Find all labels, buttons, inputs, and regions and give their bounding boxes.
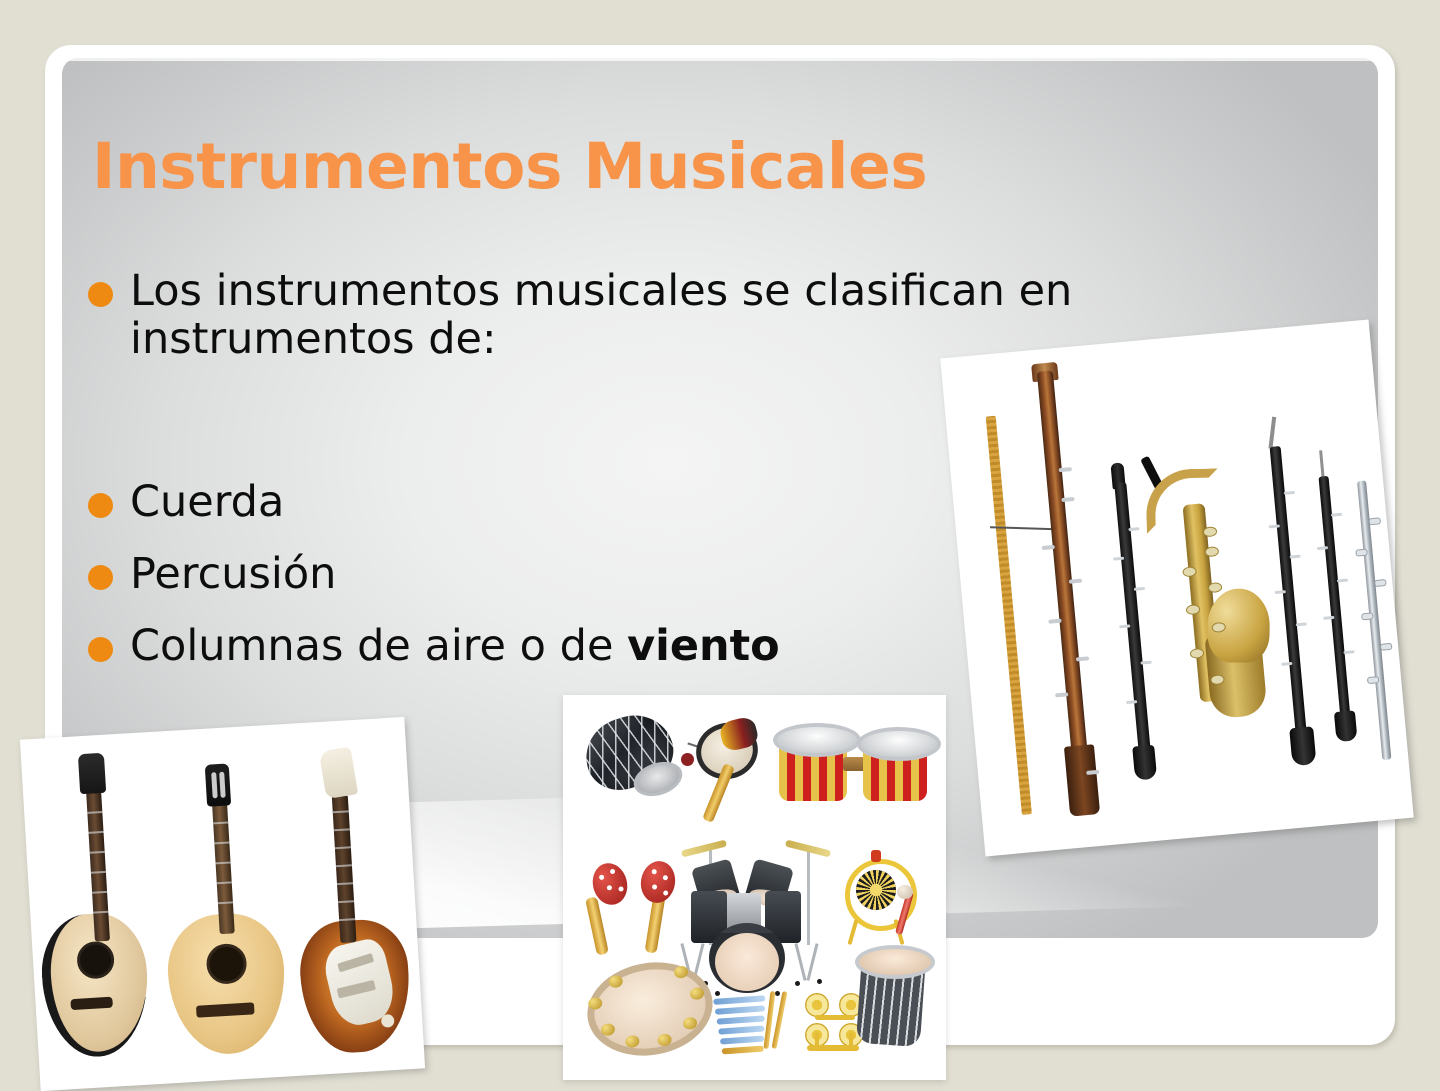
bullet-dot-icon	[88, 565, 113, 590]
clarinet-bell-shape	[1132, 745, 1157, 781]
classical-guitar-headstock-shape	[205, 763, 231, 806]
bassoon-key-shape	[1086, 770, 1099, 775]
oboe-reed-shape	[1319, 450, 1325, 478]
oboe-key-shape	[1331, 513, 1342, 517]
saxophone-key-shape	[1203, 526, 1218, 537]
tambourine-shape	[580, 953, 720, 1065]
woodwind-illustration	[940, 320, 1414, 857]
list-item: Percusión	[88, 551, 336, 599]
cymbal-stand-shape	[807, 849, 810, 945]
bullet-dot-icon	[88, 637, 113, 662]
oboe-key-shape	[1337, 578, 1348, 582]
bullet-text-percusion: Percusión	[130, 551, 336, 599]
drum-foot-shape	[795, 981, 800, 986]
drum-leg-shape	[806, 943, 818, 980]
bassoon-key-shape	[1069, 579, 1082, 584]
image-percussion-instruments	[563, 695, 946, 1080]
drum-leg-shape	[794, 943, 806, 980]
maraca-handle-shape	[585, 896, 609, 955]
bass-drum-head-shape	[715, 933, 779, 991]
maraca-handle-shape	[645, 894, 666, 953]
drum-foot-shape	[775, 991, 780, 996]
english-horn-reed-shape	[1268, 417, 1276, 449]
damaru-bead-shape	[681, 753, 694, 766]
saxophone-key-shape	[1208, 582, 1223, 593]
conga-head-shape	[855, 945, 935, 979]
flute-key-shape	[1367, 676, 1380, 684]
bongo-head-right-shape	[857, 727, 941, 761]
list-item: Columnas de aire o de viento	[88, 623, 780, 671]
gong-mount-shape	[871, 850, 881, 862]
list-item: Cuerda	[88, 479, 284, 527]
xylophone-shape	[713, 993, 771, 1055]
bassoon-key-shape	[1076, 656, 1089, 661]
wooden-rod-shape	[986, 416, 1032, 815]
flute-key-shape	[1355, 549, 1368, 557]
bullet-text-viento: Columnas de aire o de viento	[130, 623, 780, 671]
acoustic-guitar-headstock-shape	[78, 753, 106, 794]
bassoon-key-shape	[1061, 497, 1074, 502]
bassoon-key-shape	[1059, 467, 1072, 472]
drum-foot-shape	[715, 991, 720, 996]
page-title: Instrumentos Musicales	[92, 134, 927, 200]
bullet-text-viento-lead: Columnas de aire o de	[130, 621, 627, 671]
percussion-illustration	[563, 695, 946, 1080]
clarinet-key-shape	[1128, 527, 1139, 531]
flute-key-shape	[1361, 612, 1374, 620]
bullet-text-cuerda: Cuerda	[130, 479, 284, 527]
bullet-text-viento-emphasis: viento	[627, 621, 780, 671]
saxophone-key-shape	[1204, 546, 1219, 557]
electric-guitar-headstock-shape	[319, 747, 358, 800]
english-horn-bell-shape	[1289, 726, 1316, 766]
gong-mallet-head-shape	[897, 885, 913, 899]
flute-key-shape	[1374, 579, 1387, 587]
maraca-head-shape	[638, 858, 679, 905]
gong-leg-shape	[847, 919, 858, 945]
oboe-key-shape	[1343, 650, 1354, 654]
flute-key-shape	[1368, 517, 1381, 525]
drum-foot-shape	[817, 979, 822, 984]
image-string-instruments	[20, 717, 425, 1091]
gong-pattern-shape	[856, 870, 896, 910]
flute-key-shape	[1380, 643, 1393, 651]
bassoon-boot-shape	[1064, 744, 1100, 816]
english-horn-key-shape	[1290, 555, 1301, 559]
clarinet-key-shape	[1141, 661, 1152, 665]
oboe-bell-shape	[1334, 710, 1358, 742]
english-horn-key-shape	[1296, 622, 1307, 626]
slide-canvas: Instrumentos Musicales Los instrumentos …	[0, 0, 1440, 1080]
english-horn-key-shape	[1284, 491, 1295, 495]
cymbal-left-shape	[681, 840, 727, 858]
image-woodwind-instruments	[940, 320, 1414, 857]
bullet-dot-icon	[88, 282, 113, 307]
bullet-dot-icon	[88, 493, 113, 518]
bongo-head-left-shape	[773, 723, 861, 757]
clarinet-key-shape	[1134, 587, 1145, 591]
